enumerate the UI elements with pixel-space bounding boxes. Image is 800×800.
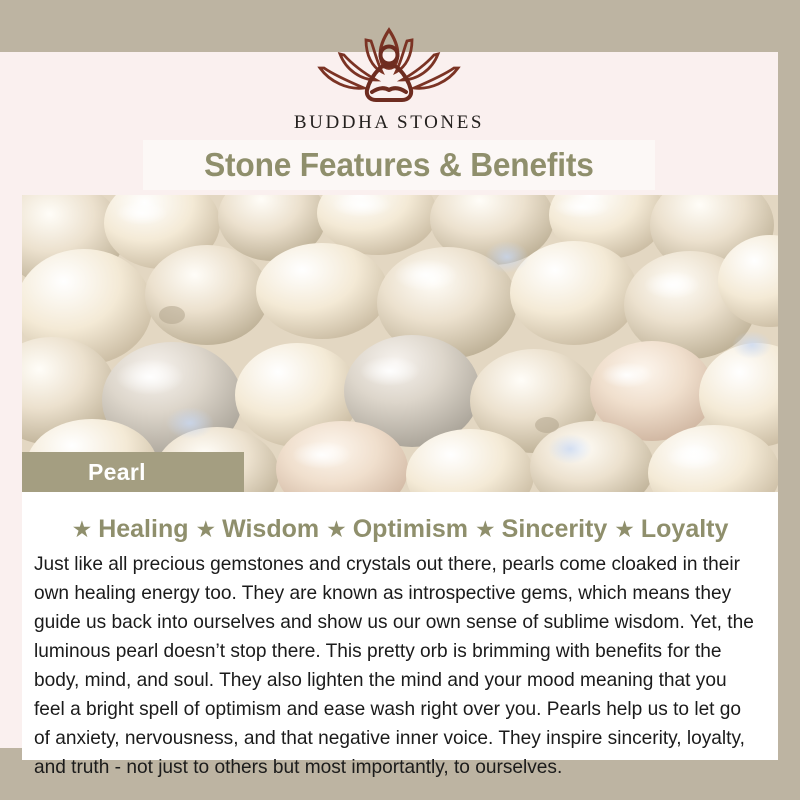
stone-name-badge: Pearl: [22, 452, 244, 492]
star-icon: ★: [475, 518, 496, 541]
benefit-label: Sincerity: [502, 515, 608, 544]
benefit-label: Loyalty: [641, 515, 729, 544]
benefit-item: ★ Healing: [72, 515, 189, 544]
star-icon: ★: [614, 518, 635, 541]
star-icon: ★: [195, 518, 216, 541]
benefit-item: ★ Wisdom: [195, 515, 319, 544]
page-title: Stone Features & Benefits: [204, 146, 594, 184]
stone-name-label: Pearl: [88, 459, 146, 486]
content-section: ★ Healing ★ Wisdom ★ Optimism ★ Sincerit…: [22, 492, 778, 748]
star-icon: ★: [326, 518, 347, 541]
infographic-page: BUDDHA STONES: [0, 0, 800, 800]
brand-wordmark: BUDDHA STONES: [294, 112, 484, 134]
benefit-item: ★ Loyalty: [614, 515, 728, 544]
description-paragraph: Just like all precious gemstones and cry…: [32, 550, 757, 782]
benefit-label: Wisdom: [222, 515, 319, 544]
star-icon: ★: [72, 518, 93, 541]
frame-decoration-right: [778, 0, 800, 800]
benefit-item: ★ Optimism: [326, 515, 468, 544]
pearl-photo: [22, 195, 778, 492]
benefits-list: ★ Healing ★ Wisdom ★ Optimism ★ Sincerit…: [32, 510, 768, 548]
page-title-plaque: Stone Features & Benefits: [143, 140, 655, 190]
benefit-label: Optimism: [353, 515, 468, 544]
benefit-item: ★ Sincerity: [475, 515, 607, 544]
benefit-label: Healing: [98, 515, 188, 544]
lotus-meditation-icon: [314, 22, 464, 108]
pearl-photo-art: [22, 195, 778, 492]
